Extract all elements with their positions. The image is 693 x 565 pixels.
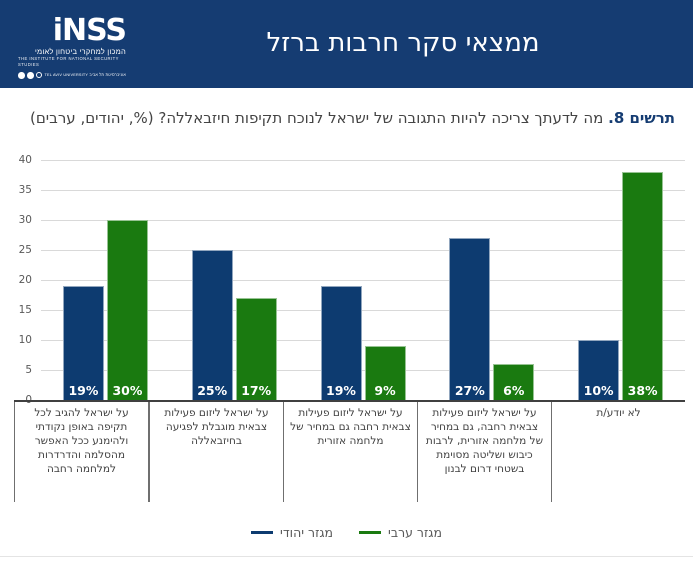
bar-value-label: 19% — [322, 383, 361, 398]
legend-swatch-arab — [359, 531, 381, 535]
category-labels: על ישראל להגיב לכל תקיפה באופן נקודתי ול… — [14, 402, 685, 502]
logo-dots-icon — [18, 72, 42, 79]
y-axis-tick-label: 25 — [19, 244, 32, 256]
bar-value-label: 25% — [193, 383, 232, 398]
bar[interactable]: 38% — [622, 172, 663, 400]
legend-swatch-jewish — [251, 531, 273, 535]
category-label: על ישראל ליזום פעילות צבאית מוגבלת לפגיע… — [149, 402, 283, 502]
legend-item[interactable]: מגזר ערבי — [359, 525, 442, 540]
bar-value-label: 9% — [366, 383, 405, 398]
bar[interactable]: 27% — [449, 238, 490, 400]
page-title: ממצאי סקר חרבות ברזל — [143, 28, 663, 58]
bar-groups: 19%30%25%17%19%9%27%6%10%38% — [41, 160, 685, 400]
y-axis-tick-label: 15 — [19, 304, 32, 316]
category-label: על ישראל ליזום פעילות צבאית רחבה, גם במח… — [417, 402, 551, 502]
y-axis-tick-label: 20 — [19, 274, 32, 286]
bar-value-label: 27% — [450, 383, 489, 398]
y-axis-labels: 0510152025303540 — [0, 160, 38, 400]
bar[interactable]: 19% — [63, 286, 104, 400]
figure-units: (%, יהודים, ערבים) — [30, 109, 154, 127]
y-axis-tick-label: 10 — [19, 334, 32, 346]
category-label: על ישראל להגיב לכל תקיפה באופן נקודתי ול… — [14, 402, 149, 502]
page-header: iNSS המכון למחקרי ביטחון לאומי THE INSTI… — [0, 0, 693, 88]
category-label: לא יודע/ת — [551, 402, 685, 502]
bar-value-label: 30% — [108, 383, 147, 398]
bar-group: 27%6% — [427, 160, 556, 400]
bar-value-label: 6% — [494, 383, 533, 398]
logo-english-name: THE INSTITUTE FOR NATIONAL SECURITY STUD… — [18, 56, 126, 68]
bar[interactable]: 19% — [321, 286, 362, 400]
logo-wordmark: iNSS — [18, 16, 126, 46]
bar[interactable]: 6% — [493, 364, 534, 400]
plot-area: 19%30%25%17%19%9%27%6%10%38% — [41, 160, 685, 400]
legend-label: מגזר יהודי — [280, 525, 333, 540]
logo-university-name: TEL AVIV UNIVERSITY אוניברסיטת תל אביב — [44, 73, 126, 78]
bar-group: 19%9% — [299, 160, 428, 400]
bar-group: 10%38% — [556, 160, 685, 400]
inss-logo: iNSS המכון למחקרי ביטחון לאומי THE INSTI… — [18, 16, 126, 72]
bar-value-label: 19% — [64, 383, 103, 398]
bar[interactable]: 30% — [107, 220, 148, 400]
bar-value-label: 38% — [623, 383, 662, 398]
y-axis-tick-label: 5 — [25, 364, 32, 376]
bar-chart: 0510152025303540 19%30%25%17%19%9%27%6%1… — [0, 152, 693, 512]
y-axis-tick-label: 30 — [19, 214, 32, 226]
bar-value-label: 17% — [237, 383, 276, 398]
category-label: על ישראל ליזום פעילות צבאית רחבה גם במחי… — [283, 402, 417, 502]
figure-caption: תרשים 8. מה לדעתך צריכה להיות התגובה של … — [20, 106, 675, 131]
logo-hebrew-name: המכון למחקרי ביטחון לאומי — [18, 47, 126, 56]
footer-divider — [0, 556, 693, 557]
legend-item[interactable]: מגזר יהודי — [251, 525, 333, 540]
bar[interactable]: 17% — [236, 298, 277, 400]
figure-number: תרשים 8. — [608, 109, 675, 127]
bar-group: 25%17% — [170, 160, 299, 400]
bar[interactable]: 9% — [365, 346, 406, 400]
y-axis-tick-label: 35 — [19, 184, 32, 196]
chart-legend: מגזר יהודימגזר ערבי — [0, 525, 693, 540]
legend-label: מגזר ערבי — [388, 525, 442, 540]
y-axis-tick-label: 40 — [19, 154, 32, 166]
figure-question: מה לדעתך צריכה להיות התגובה של ישראל לנו… — [158, 109, 603, 127]
bar-value-label: 10% — [579, 383, 618, 398]
bar[interactable]: 10% — [578, 340, 619, 400]
bar[interactable]: 25% — [192, 250, 233, 400]
bar-group: 19%30% — [41, 160, 170, 400]
logo-footer-row: TEL AVIV UNIVERSITY אוניברסיטת תל אביב — [18, 72, 126, 79]
